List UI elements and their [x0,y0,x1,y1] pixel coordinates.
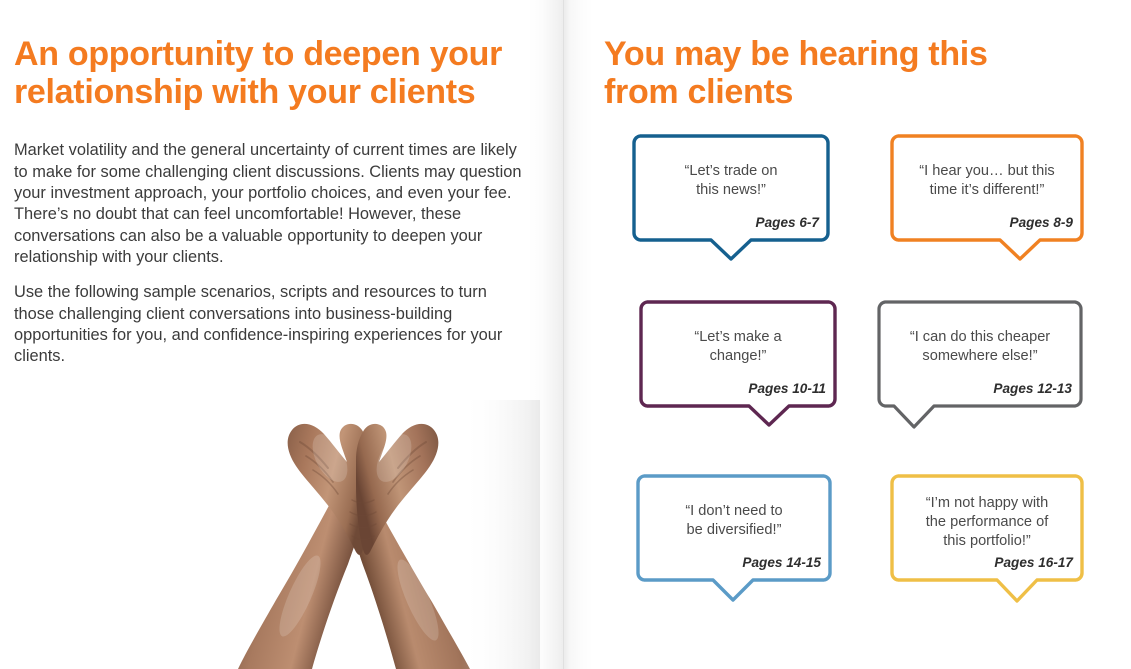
speech-bubble-i-hear-you-but-this-time-its-different[interactable]: “I hear you… but this time it’s differen… [885,130,1089,268]
quote-line: “I hear you… but this [885,162,1089,181]
quote-line: “Let’s trade on [627,162,835,181]
hands-forming-heart-photo [180,400,540,669]
quote-line: somewhere else!” [872,347,1088,366]
left-page: An opportunity to deepen your relationsh… [0,0,527,669]
page-spine-line [563,0,564,669]
speech-bubble-quote: “I’m not happy with the performance of t… [885,494,1089,551]
quote-line: this news!” [627,181,835,200]
left-page-headline: An opportunity to deepen your relationsh… [14,35,514,111]
quote-line: be diversified!” [631,521,837,540]
speech-bubble-quote: “I hear you… but this time it’s differen… [885,162,1089,200]
quote-line: “I’m not happy with [885,494,1089,513]
speech-bubble-trade-on-this-news[interactable]: “Let’s trade on this news!” Pages 6-7 [627,130,835,268]
speech-bubble-quote: “I can do this cheaper somewhere else!” [872,328,1088,366]
bubble-pages-reference[interactable]: Pages 10-11 [748,381,826,396]
right-page-headline: You may be hearing this from clients [604,35,1034,111]
bubble-pages-reference[interactable]: Pages 14-15 [742,555,821,570]
speech-bubble-i-can-do-this-cheaper-somewhere-else[interactable]: “I can do this cheaper somewhere else!” … [872,296,1088,436]
bubble-pages-reference[interactable]: Pages 8-9 [1010,215,1073,230]
speech-bubble-quote: “I don’t need to be diversified!” [631,502,837,540]
quote-line: time it’s different!” [885,181,1089,200]
speech-bubble-quote: “Let’s make a change!” [634,328,842,366]
speech-bubble-quote: “Let’s trade on this news!” [627,162,835,200]
left-page-paragraph-2: Use the following sample scenarios, scri… [14,282,522,367]
quote-line: “I don’t need to [631,502,837,521]
speech-bubble-im-not-happy-with-the-performance[interactable]: “I’m not happy with the performance of t… [885,470,1089,610]
bubble-pages-reference[interactable]: Pages 16-17 [994,555,1073,570]
left-page-paragraph-1: Market volatility and the general uncert… [14,140,522,268]
quote-line: “Let’s make a [634,328,842,347]
brochure-page-spread: An opportunity to deepen your relationsh… [0,0,1131,669]
bubble-pages-reference[interactable]: Pages 12-13 [993,381,1072,396]
quote-line: change!” [634,347,842,366]
speech-bubble-lets-make-a-change[interactable]: “Let’s make a change!” Pages 10-11 [634,296,842,434]
quote-line: “I can do this cheaper [872,328,1088,347]
quote-line: this portfolio!” [885,532,1089,551]
quote-line: the performance of [885,513,1089,532]
bubble-pages-reference[interactable]: Pages 6-7 [756,215,819,230]
right-page: You may be hearing this from clients “Le… [593,0,1131,669]
speech-bubble-i-dont-need-to-be-diversified[interactable]: “I don’t need to be diversified!” Pages … [631,470,837,608]
